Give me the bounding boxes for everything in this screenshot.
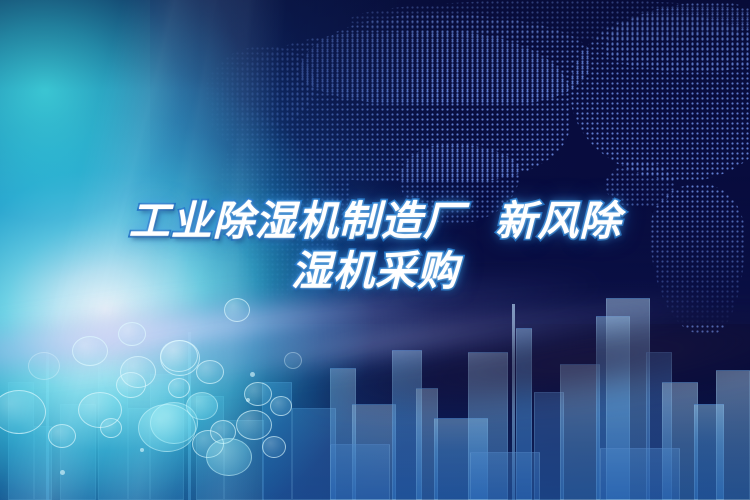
bubble-spark (140, 448, 144, 452)
bubble (270, 396, 292, 416)
bubble (118, 322, 146, 346)
bubble-spark (60, 470, 65, 475)
bubble-spark (250, 372, 255, 377)
bubble (48, 424, 76, 448)
bubble (196, 360, 224, 384)
bubble (224, 298, 250, 322)
promo-banner: 工业除湿机制造厂 新风除 湿机采购 (0, 0, 750, 500)
bubble (206, 438, 252, 476)
bubble (28, 352, 60, 380)
bubble (284, 352, 302, 369)
bubble (138, 404, 196, 452)
bubble (72, 336, 108, 366)
bubble (168, 378, 190, 398)
bubble (244, 382, 272, 406)
headline-line-1: 工业除湿机制造厂 新风除 (0, 196, 750, 246)
headline-line-2: 湿机采购 (0, 246, 750, 296)
bubble (262, 436, 286, 458)
bubble (236, 410, 272, 440)
bubble (100, 418, 122, 438)
bubble (160, 340, 198, 372)
bubble-spark (246, 398, 250, 402)
headline: 工业除湿机制造厂 新风除 湿机采购 (0, 196, 750, 296)
bubble (116, 372, 146, 398)
